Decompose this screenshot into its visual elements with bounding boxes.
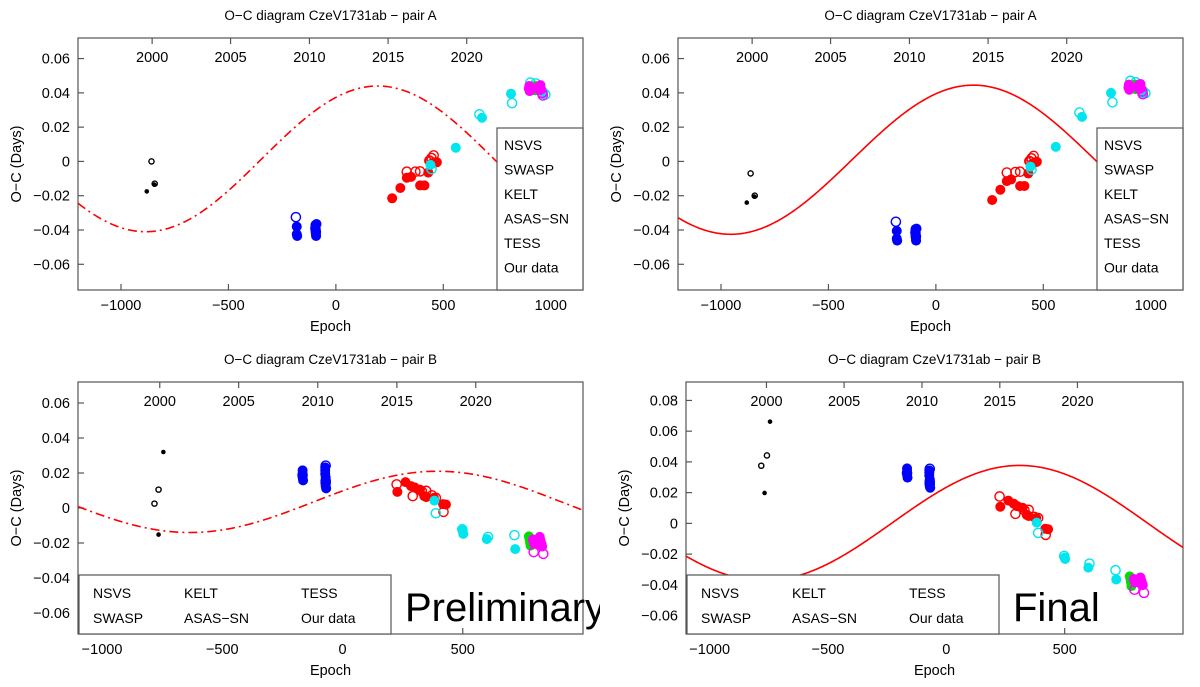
y-tick-label: −0.02 bbox=[641, 547, 678, 563]
top-axis-year-label: 2000 bbox=[750, 394, 782, 410]
top-axis-year-label: 2000 bbox=[736, 50, 768, 66]
legend-entry-kelt: KELT bbox=[792, 585, 826, 601]
top-axis-year-label: 2010 bbox=[293, 50, 325, 66]
y-tick-label: −0.06 bbox=[33, 606, 70, 622]
x-tick-label: 0 bbox=[332, 298, 340, 314]
top-axis-year-label: 2005 bbox=[223, 394, 255, 410]
legend-entry-swasp: SWASP bbox=[1104, 162, 1154, 178]
y-tick-label: −0.02 bbox=[33, 536, 70, 552]
top-axis-year-label: 2015 bbox=[972, 50, 1004, 66]
y-tick-label: 0.04 bbox=[42, 86, 70, 102]
legend: NSVSKELTTESSSWASPASAS−SNOur dataPrelimin… bbox=[79, 575, 600, 634]
legend-entry-nsvs: NSVS bbox=[504, 137, 542, 153]
x-axis-label: Epoch bbox=[310, 319, 351, 335]
x-tick-label: −1000 bbox=[101, 298, 142, 314]
chart-title: O−C diagram CzeV1731ab − pair B bbox=[828, 352, 1041, 367]
top-axis-year-label: 2020 bbox=[1051, 50, 1083, 66]
data-point-nsvs bbox=[156, 487, 161, 492]
x-axis-label: Epoch bbox=[310, 663, 351, 679]
y-axis-label: O−C (Days) bbox=[609, 126, 625, 203]
top-axis-year-label: 2005 bbox=[814, 50, 846, 66]
legend-entry-our-data: Our data bbox=[301, 610, 356, 626]
data-point-nsvs bbox=[152, 501, 157, 506]
x-tick-label: 500 bbox=[451, 642, 475, 658]
legend: NSVSSWASPKELTASAS−SNTESSOur data bbox=[497, 128, 583, 290]
data-point-nsvs bbox=[759, 463, 764, 468]
legend-entry-our-data: Our data bbox=[909, 610, 964, 626]
data-point-nsvs bbox=[161, 450, 166, 455]
x-axis-label: Epoch bbox=[914, 663, 955, 679]
data-point-asas-sn bbox=[1111, 574, 1121, 584]
top-axis-year-label: 2015 bbox=[372, 50, 404, 66]
legend-entry-asas-sn: ASAS−SN bbox=[504, 211, 569, 227]
y-tick-label: −0.06 bbox=[33, 257, 70, 273]
data-point-nsvs bbox=[764, 453, 769, 458]
x-axis-label: Epoch bbox=[910, 319, 951, 335]
data-point-nsvs bbox=[144, 189, 149, 194]
y-tick-label: −0.04 bbox=[633, 223, 670, 239]
panel-top-right: O−C diagram CzeV1731ab − pair A−1000−500… bbox=[600, 0, 1200, 343]
panel-bottom-right: O−C diagram CzeV1731ab − pair B−1000−500… bbox=[600, 343, 1200, 687]
legend-entry-swasp: SWASP bbox=[701, 610, 751, 626]
data-point-asas-sn bbox=[1032, 518, 1042, 528]
top-axis-year-label: 2010 bbox=[906, 394, 938, 410]
legend: NSVSSWASPKELTASAS−SNTESSOur data bbox=[1097, 128, 1183, 290]
y-tick-label: 0.02 bbox=[650, 486, 678, 502]
data-point-kelt bbox=[387, 193, 397, 203]
y-tick-label: 0.06 bbox=[642, 52, 670, 68]
data-point-nsvs bbox=[149, 159, 154, 164]
y-axis-label: O−C (Days) bbox=[9, 470, 25, 547]
y-tick-label: −0.02 bbox=[633, 189, 670, 205]
data-point-kelt bbox=[1002, 168, 1011, 177]
chart-title: O−C diagram CzeV1731ab − pair A bbox=[824, 8, 1036, 23]
legend-entry-kelt: KELT bbox=[1104, 186, 1138, 202]
chart-title: O−C diagram CzeV1731ab − pair A bbox=[224, 8, 436, 23]
top-axis-year-label: 2020 bbox=[451, 50, 483, 66]
data-points bbox=[744, 76, 1150, 245]
data-point-kelt bbox=[995, 492, 1004, 501]
data-point-nsvs bbox=[748, 171, 753, 176]
y-tick-label: 0 bbox=[670, 516, 678, 532]
y-tick-label: 0.04 bbox=[650, 455, 678, 471]
data-point-kelt bbox=[395, 183, 405, 193]
x-tick-label: 500 bbox=[431, 298, 455, 314]
data-point-asas-sn bbox=[1111, 566, 1120, 575]
x-tick-label: 500 bbox=[1031, 298, 1055, 314]
data-point-asas-sn bbox=[1106, 88, 1116, 98]
data-point-swasp bbox=[891, 217, 900, 226]
legend-entry-nsvs: NSVS bbox=[701, 585, 739, 601]
y-tick-label: −0.04 bbox=[33, 571, 70, 587]
x-tick-label: 0 bbox=[932, 298, 940, 314]
x-tick-label: −1000 bbox=[701, 298, 742, 314]
top-axis-year-label: 2005 bbox=[828, 394, 860, 410]
legend-entry-tess: TESS bbox=[1104, 235, 1141, 251]
chart-bottom-left: O−C diagram CzeV1731ab − pair B−1000−500… bbox=[0, 343, 600, 687]
chart-top-right: O−C diagram CzeV1731ab − pair A−1000−500… bbox=[600, 0, 1200, 343]
x-tick-label: −500 bbox=[206, 642, 239, 658]
x-tick-label: −500 bbox=[812, 298, 845, 314]
data-point-asas-sn bbox=[507, 99, 516, 108]
legend-entry-swasp: SWASP bbox=[504, 162, 554, 178]
data-point-swasp bbox=[291, 213, 300, 222]
top-axis-year-label: 2000 bbox=[136, 50, 168, 66]
legend-entry-kelt: KELT bbox=[504, 186, 538, 202]
legend-entry-our-data: Our data bbox=[1104, 260, 1159, 276]
watermark-text: Preliminary bbox=[405, 586, 600, 630]
data-point-asas-sn bbox=[510, 531, 519, 540]
data-points bbox=[759, 419, 1149, 597]
legend-entry-asas-sn: ASAS−SN bbox=[184, 610, 249, 626]
legend-entry-asas-sn: ASAS−SN bbox=[1104, 211, 1169, 227]
y-tick-label: 0.06 bbox=[42, 396, 70, 412]
y-tick-label: −0.02 bbox=[33, 189, 70, 205]
data-point-kelt bbox=[419, 180, 429, 190]
data-points bbox=[144, 78, 550, 241]
legend-entry-swasp: SWASP bbox=[93, 610, 143, 626]
watermark-text: Final bbox=[1013, 586, 1100, 630]
y-tick-label: −0.06 bbox=[633, 257, 670, 273]
panel-bottom-left: O−C diagram CzeV1731ab − pair B−1000−500… bbox=[0, 343, 600, 687]
y-tick-label: 0.08 bbox=[650, 393, 678, 409]
figure-root: O−C diagram CzeV1731ab − pair A−1000−500… bbox=[0, 0, 1200, 687]
data-point-nsvs bbox=[768, 419, 773, 424]
y-tick-label: −0.04 bbox=[641, 578, 678, 594]
y-tick-label: 0.02 bbox=[42, 466, 70, 482]
data-point-swasp bbox=[292, 231, 302, 241]
y-axis-label: O−C (Days) bbox=[617, 470, 633, 547]
y-tick-label: 0.02 bbox=[42, 120, 70, 136]
data-point-kelt bbox=[408, 492, 417, 501]
y-tick-label: 0.02 bbox=[642, 120, 670, 136]
data-point-kelt bbox=[995, 185, 1005, 195]
x-tick-label: 1000 bbox=[535, 298, 567, 314]
data-point-nsvs bbox=[744, 200, 749, 205]
legend-entry-our-data: Our data bbox=[504, 260, 559, 276]
data-point-nsvs bbox=[156, 532, 161, 537]
chart-top-left: O−C diagram CzeV1731ab − pair A−1000−500… bbox=[0, 0, 600, 343]
y-tick-label: 0 bbox=[62, 501, 70, 517]
y-tick-label: 0.06 bbox=[42, 52, 70, 68]
legend-entry-kelt: KELT bbox=[184, 585, 218, 601]
top-axis-year-label: 2010 bbox=[302, 394, 334, 410]
y-tick-label: 0 bbox=[62, 154, 70, 170]
y-tick-label: 0.04 bbox=[642, 86, 670, 102]
data-point-asas-sn bbox=[429, 496, 439, 506]
top-axis-year-label: 2000 bbox=[144, 394, 176, 410]
y-tick-label: −0.06 bbox=[641, 609, 678, 625]
data-points bbox=[152, 450, 548, 559]
data-point-kelt bbox=[1043, 524, 1053, 534]
y-tick-label: 0.06 bbox=[650, 424, 678, 440]
x-tick-label: 500 bbox=[1053, 642, 1077, 658]
top-axis-year-label: 2015 bbox=[381, 394, 413, 410]
legend-entry-tess: TESS bbox=[301, 585, 338, 601]
x-tick-label: −1000 bbox=[689, 642, 730, 658]
legend-entry-nsvs: NSVS bbox=[93, 585, 131, 601]
chart-bottom-right: O−C diagram CzeV1731ab − pair B−1000−500… bbox=[600, 343, 1200, 687]
data-point-asas-sn bbox=[510, 544, 520, 554]
top-axis-year-label: 2020 bbox=[460, 394, 492, 410]
data-point-asas-sn bbox=[1051, 142, 1061, 152]
top-axis-year-label: 2020 bbox=[1061, 394, 1093, 410]
x-tick-label: −500 bbox=[812, 642, 845, 658]
x-tick-label: −1000 bbox=[82, 642, 123, 658]
top-axis-year-label: 2005 bbox=[214, 50, 246, 66]
x-tick-label: 1000 bbox=[1135, 298, 1167, 314]
y-tick-label: −0.04 bbox=[33, 223, 70, 239]
data-point-asas-sn bbox=[1108, 98, 1117, 107]
legend-entry-tess: TESS bbox=[909, 585, 946, 601]
top-axis-year-label: 2015 bbox=[984, 394, 1016, 410]
y-axis-label: O−C (Days) bbox=[9, 126, 25, 203]
top-axis-year-label: 2010 bbox=[893, 50, 925, 66]
panel-top-left: O−C diagram CzeV1731ab − pair A−1000−500… bbox=[0, 0, 600, 343]
x-tick-label: −500 bbox=[212, 298, 245, 314]
data-point-kelt bbox=[995, 502, 1005, 512]
x-tick-label: 0 bbox=[338, 642, 346, 658]
y-tick-label: 0 bbox=[662, 154, 670, 170]
y-tick-label: 0.04 bbox=[42, 431, 70, 447]
legend-entry-asas-sn: ASAS−SN bbox=[792, 610, 857, 626]
legend-entry-tess: TESS bbox=[504, 235, 541, 251]
data-point-asas-sn bbox=[451, 143, 461, 153]
x-tick-label: 0 bbox=[942, 642, 950, 658]
data-point-nsvs bbox=[762, 491, 767, 496]
legend-entry-nsvs: NSVS bbox=[1104, 137, 1142, 153]
legend: NSVSKELTTESSSWASPASAS−SNOur dataFinal bbox=[687, 575, 1100, 634]
chart-title: O−C diagram CzeV1731ab − pair B bbox=[224, 352, 437, 367]
data-point-kelt bbox=[987, 195, 997, 205]
data-point-swasp bbox=[892, 236, 902, 246]
data-point-kelt bbox=[1019, 181, 1029, 191]
data-point-asas-sn bbox=[506, 89, 516, 99]
